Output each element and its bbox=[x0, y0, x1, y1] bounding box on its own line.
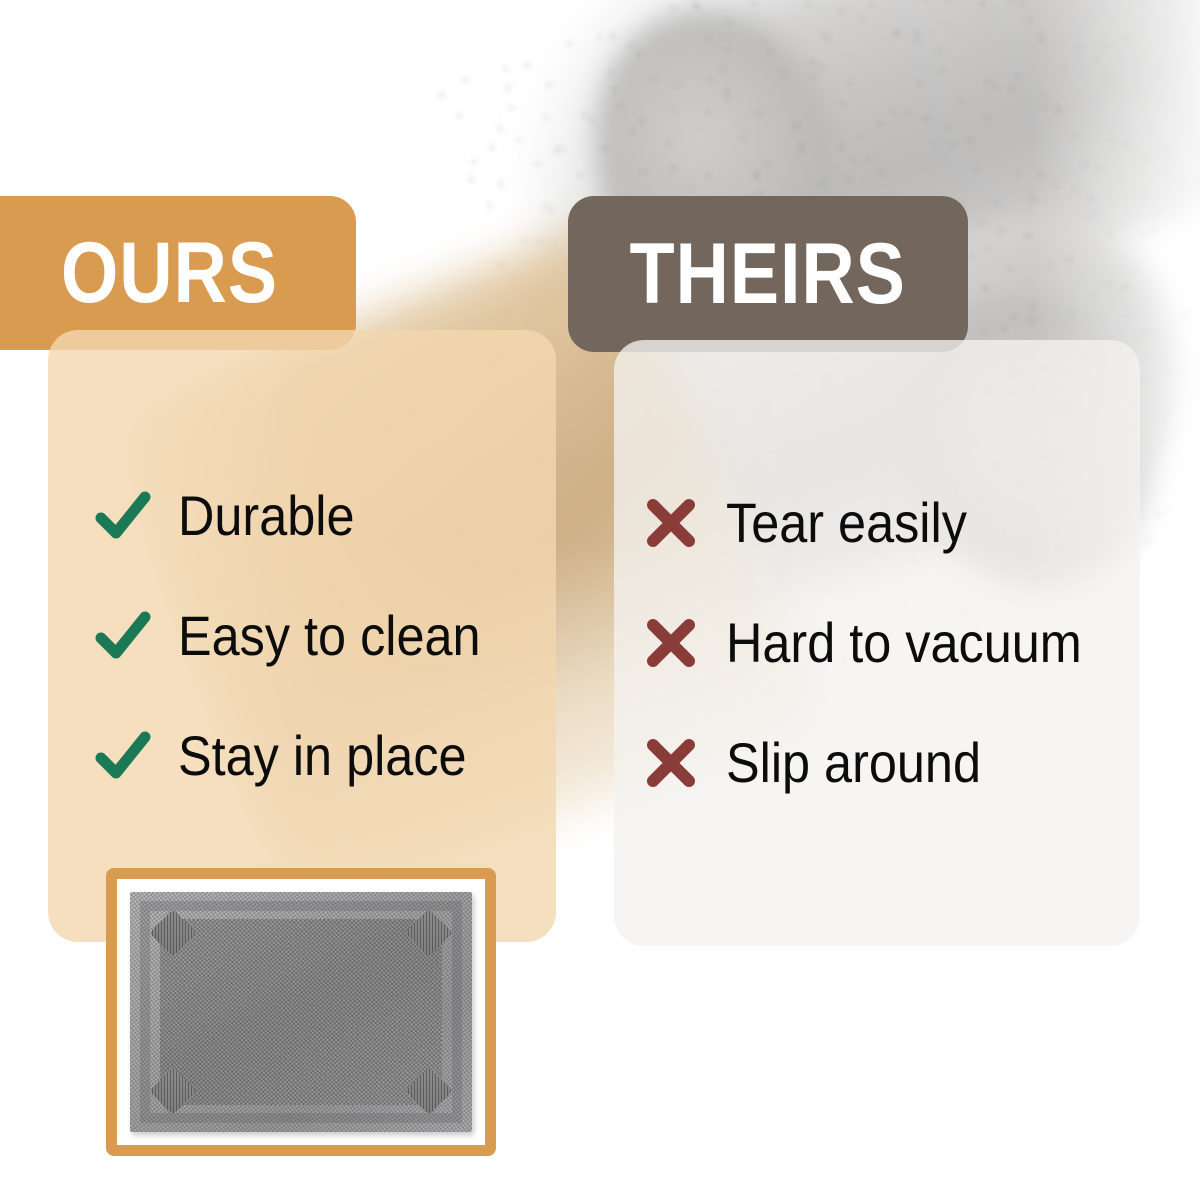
ours-feature-label: Stay in place bbox=[178, 728, 467, 784]
ours-banner: OURS bbox=[0, 196, 356, 350]
ours-feature-item: Durable bbox=[94, 487, 556, 545]
comparison-graphic: OURS THEIRS Durable Easy to clean bbox=[0, 0, 1200, 1200]
ours-feature-item: Stay in place bbox=[94, 727, 556, 785]
cross-icon bbox=[642, 734, 700, 792]
ours-feature-list: Durable Easy to clean Stay in place bbox=[48, 487, 556, 785]
ours-feature-item: Easy to clean bbox=[94, 607, 556, 665]
product-photo-frame bbox=[106, 868, 496, 1156]
doormat-image bbox=[130, 892, 472, 1132]
theirs-feature-item: Tear easily bbox=[642, 494, 1140, 552]
ours-feature-label: Durable bbox=[178, 488, 354, 544]
theirs-banner: THEIRS bbox=[568, 196, 968, 352]
cross-icon bbox=[642, 494, 700, 552]
ours-banner-label: OURS bbox=[38, 230, 277, 316]
theirs-feature-item: Slip around bbox=[642, 734, 1140, 792]
theirs-feature-item: Hard to vacuum bbox=[642, 614, 1140, 672]
cross-icon bbox=[642, 614, 700, 672]
theirs-feature-label: Tear easily bbox=[726, 495, 967, 551]
check-icon bbox=[94, 727, 152, 785]
ours-card: Durable Easy to clean Stay in place bbox=[48, 330, 556, 942]
theirs-feature-label: Slip around bbox=[726, 735, 981, 791]
check-icon bbox=[94, 607, 152, 665]
theirs-feature-label: Hard to vacuum bbox=[726, 615, 1082, 671]
check-icon bbox=[94, 487, 152, 545]
theirs-card: Tear easily Hard to vacuum Slip around bbox=[614, 340, 1140, 946]
doormat-center-field bbox=[160, 919, 442, 1105]
ours-feature-label: Easy to clean bbox=[178, 608, 481, 664]
theirs-banner-label: THEIRS bbox=[630, 231, 906, 317]
theirs-feature-list: Tear easily Hard to vacuum Slip around bbox=[614, 494, 1140, 792]
